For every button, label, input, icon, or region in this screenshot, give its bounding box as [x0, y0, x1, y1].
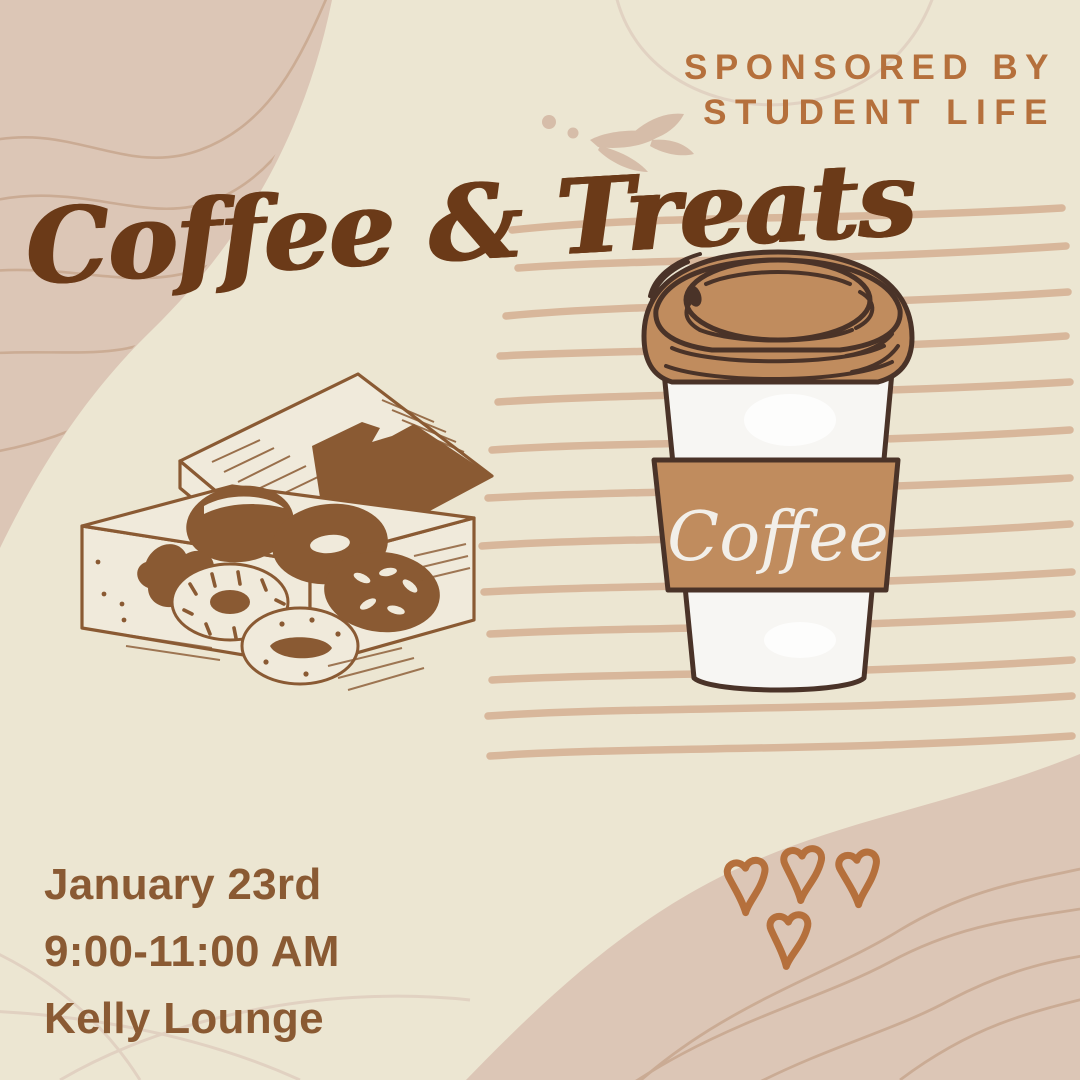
sponsor-text: SPONSORED BY STUDENT LIFE — [684, 46, 1056, 136]
event-date: January 23rd — [44, 852, 340, 919]
poster-canvas: Coffee SPONSORED BY STUDENT LIFE Coffee … — [0, 0, 1080, 1080]
heart-icon — [837, 850, 883, 906]
heart-icon — [726, 859, 771, 914]
event-time: 9:00-11:00 AM — [44, 919, 340, 986]
event-details: January 23rd 9:00-11:00 AM Kelly Lounge — [44, 852, 340, 1053]
heart-icon — [769, 914, 811, 968]
sponsor-line-2: STUDENT LIFE — [684, 91, 1056, 136]
event-location: Kelly Lounge — [44, 986, 340, 1053]
sponsor-line-1: SPONSORED BY — [684, 46, 1056, 91]
heart-icon — [783, 848, 826, 902]
